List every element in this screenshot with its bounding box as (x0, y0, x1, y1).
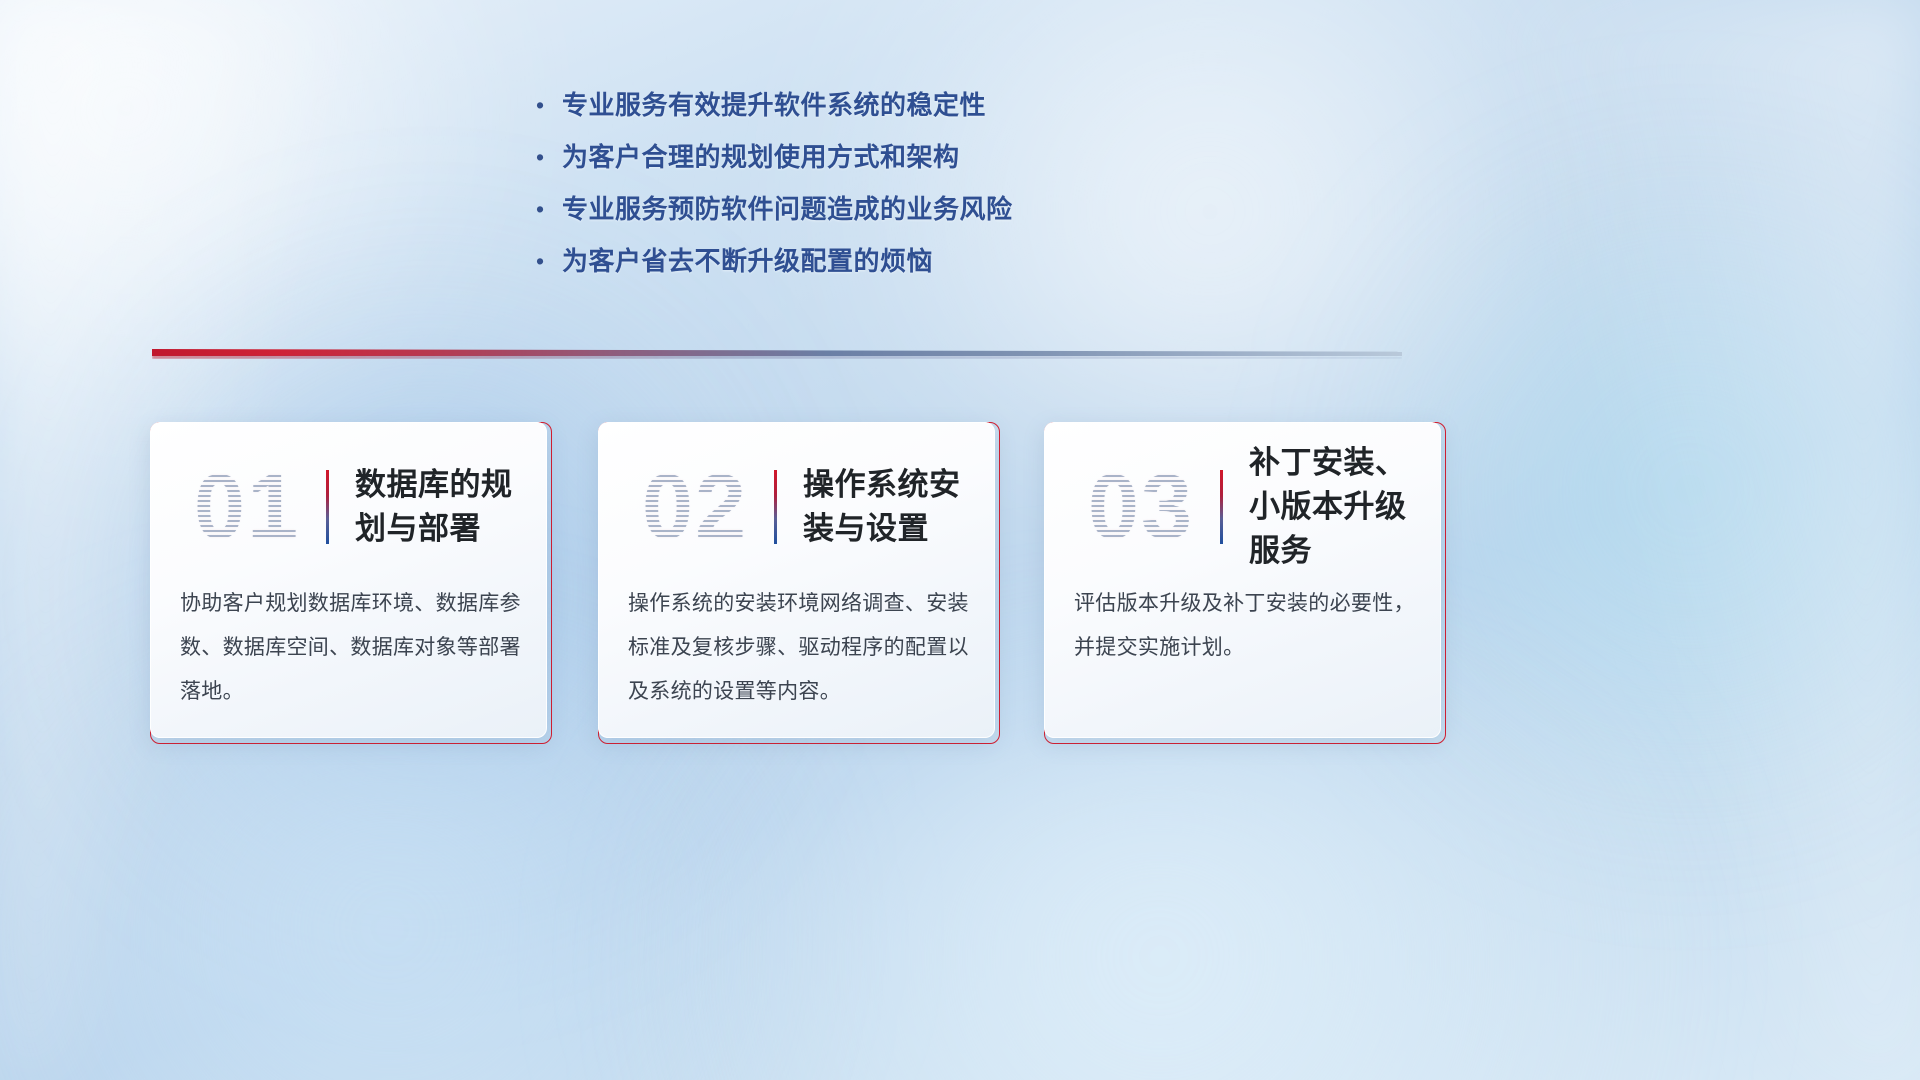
card-header: 01 数据库的规划与部署 (150, 446, 547, 568)
bullet-dot-icon: • (536, 138, 562, 176)
bullet-dot-icon: • (536, 190, 562, 228)
card-face: 01 数据库的规划与部署 协助客户规划数据库环境、数据库参数、数据库空间、数据库… (150, 422, 547, 738)
list-item: • 为客户合理的规划使用方式和架构 (536, 138, 1436, 190)
card-number-text: 01 (172, 455, 322, 559)
card-number-watermark: 03 (1066, 455, 1216, 559)
benefits-bullet-list: • 专业服务有效提升软件系统的稳定性 • 为客户合理的规划使用方式和架构 • 专… (536, 86, 1436, 294)
card-number-watermark: 02 (620, 455, 770, 559)
bullet-text-3: 专业服务预防软件问题造成的业务风险 (562, 190, 1013, 228)
card-number-watermark: 01 (172, 455, 322, 559)
bullet-dot-icon: • (536, 86, 562, 124)
card-body-text: 评估版本升级及补丁安装的必要性，并提交实施计划。 (1074, 582, 1415, 670)
card-header: 03 补丁安装、小版本升级服务 (1044, 446, 1441, 568)
card-title: 补丁安装、小版本升级服务 (1249, 441, 1441, 573)
service-card-02[interactable]: 02 操作系统安装与设置 操作系统的安装环境网络调查、安装标准及复核步骤、驱动程… (598, 422, 1000, 744)
bullet-text-1: 专业服务有效提升软件系统的稳定性 (562, 86, 986, 124)
service-card-01[interactable]: 01 数据库的规划与部署 协助客户规划数据库环境、数据库参数、数据库空间、数据库… (150, 422, 552, 744)
card-number-text: 02 (620, 455, 770, 559)
card-accent-bar (326, 470, 329, 544)
divider-primary-line (152, 349, 1402, 356)
list-item: • 专业服务有效提升软件系统的稳定性 (536, 86, 1436, 138)
card-body-text: 操作系统的安装环境网络调查、安装标准及复核步骤、驱动程序的配置以及系统的设置等内… (628, 582, 969, 714)
bullet-text-4: 为客户省去不断升级配置的烦恼 (562, 242, 933, 280)
card-face: 02 操作系统安装与设置 操作系统的安装环境网络调查、安装标准及复核步骤、驱动程… (598, 422, 995, 738)
list-item: • 为客户省去不断升级配置的烦恼 (536, 242, 1436, 294)
service-cards-container: 01 数据库的规划与部署 协助客户规划数据库环境、数据库参数、数据库空间、数据库… (150, 422, 1770, 744)
card-face: 03 补丁安装、小版本升级服务 评估版本升级及补丁安装的必要性，并提交实施计划。 (1044, 422, 1441, 738)
bullet-text-2: 为客户合理的规划使用方式和架构 (562, 138, 960, 176)
card-title: 数据库的规划与部署 (355, 463, 547, 551)
section-divider (152, 349, 1402, 363)
card-title: 操作系统安装与设置 (803, 463, 995, 551)
service-card-03[interactable]: 03 补丁安装、小版本升级服务 评估版本升级及补丁安装的必要性，并提交实施计划。 (1044, 422, 1446, 744)
bullet-dot-icon: • (536, 242, 562, 280)
list-item: • 专业服务预防软件问题造成的业务风险 (536, 190, 1436, 242)
card-header: 02 操作系统安装与设置 (598, 446, 995, 568)
card-accent-bar (774, 470, 777, 544)
card-accent-bar (1220, 470, 1223, 544)
card-number-text: 03 (1066, 455, 1216, 559)
card-body-text: 协助客户规划数据库环境、数据库参数、数据库空间、数据库对象等部署落地。 (180, 582, 521, 714)
